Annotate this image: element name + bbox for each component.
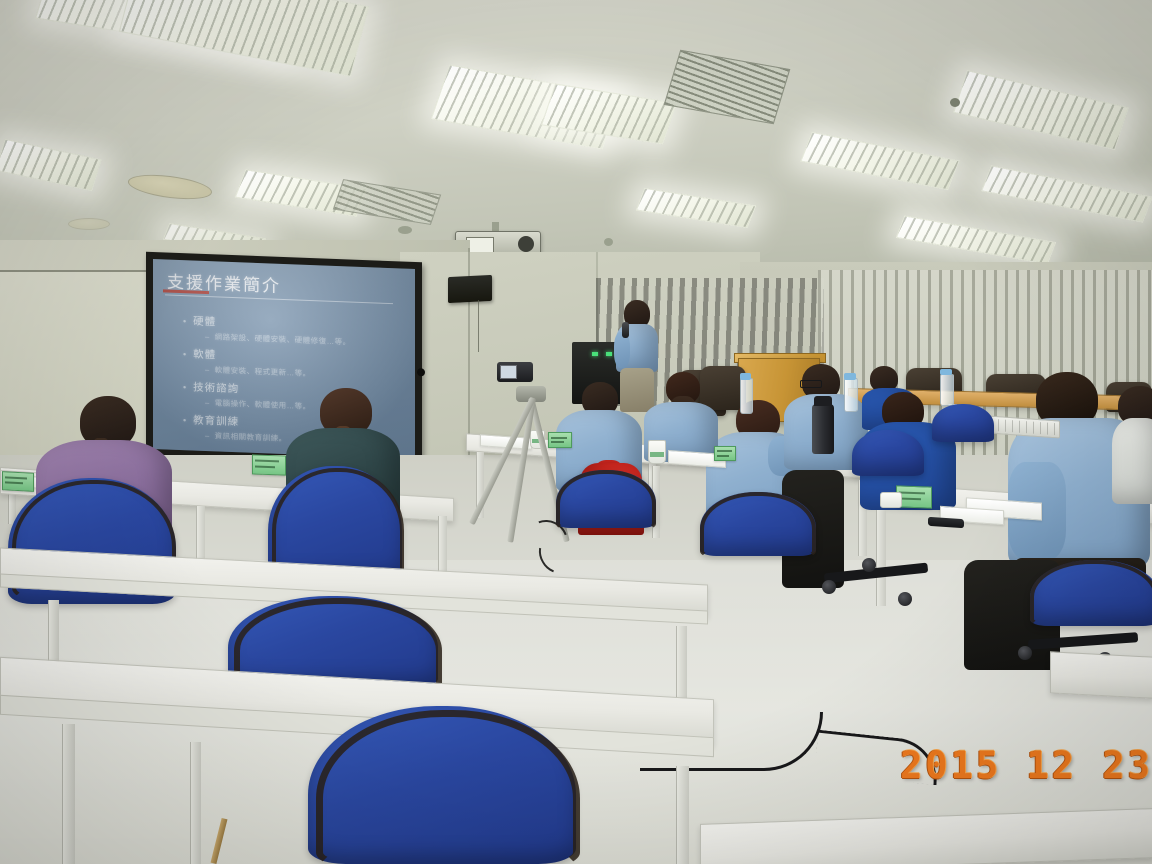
slide-title: 支援作業簡介 bbox=[167, 274, 403, 302]
presenter-microphone bbox=[622, 322, 629, 338]
ceiling-light-panel bbox=[981, 165, 1152, 223]
eyeglasses-icon bbox=[800, 380, 822, 388]
smoke-detector bbox=[950, 98, 960, 107]
water-bottle bbox=[740, 378, 753, 414]
office-chair bbox=[556, 470, 656, 532]
office-chair bbox=[1030, 560, 1152, 630]
status-led bbox=[592, 352, 598, 356]
bottle-cap bbox=[940, 369, 952, 375]
ceiling-light-panel bbox=[0, 139, 102, 192]
wall-speaker bbox=[448, 275, 492, 303]
ceiling-light-panel bbox=[800, 132, 960, 191]
table-leg bbox=[190, 742, 201, 864]
name-tent-card bbox=[714, 446, 736, 461]
attendee-torso bbox=[1112, 418, 1152, 504]
speaker-cable bbox=[478, 300, 479, 352]
ceiling-speaker bbox=[128, 171, 212, 203]
chair-caster bbox=[862, 558, 876, 572]
office-chair bbox=[932, 404, 994, 444]
screen-roller-knob bbox=[417, 368, 425, 376]
water-bottle bbox=[940, 374, 954, 406]
office-chair bbox=[700, 492, 816, 560]
table-leg bbox=[62, 724, 75, 864]
slide-title-accent-rule bbox=[163, 289, 209, 294]
ceiling-air-vent bbox=[664, 50, 791, 124]
ceiling-light-panel bbox=[953, 70, 1129, 150]
water-bottle bbox=[844, 378, 858, 412]
camcorder-lcd-screen bbox=[500, 365, 517, 379]
chair-caster bbox=[822, 580, 836, 594]
paper-cup bbox=[648, 440, 666, 464]
bottle-cap bbox=[740, 373, 751, 380]
photo-canvas: 支援作業簡介 硬體 網路架設、硬體安裝、硬體修復…等。 軟體 軟體安裝、程式更新… bbox=[0, 0, 1152, 864]
classroom-table bbox=[1050, 651, 1152, 698]
smoke-detector bbox=[398, 226, 412, 234]
camcorder bbox=[497, 362, 533, 382]
paper-cup bbox=[880, 492, 902, 508]
ceiling-patch bbox=[68, 218, 110, 230]
chair-caster bbox=[898, 592, 912, 606]
table-leg bbox=[438, 516, 447, 572]
bottle-cap bbox=[844, 373, 856, 380]
smoke-detector bbox=[604, 238, 613, 246]
table-leg bbox=[876, 510, 886, 606]
office-chair bbox=[852, 430, 924, 480]
chair-caster bbox=[1018, 646, 1032, 660]
camera-datestamp: 2015 12 23 bbox=[900, 744, 1152, 787]
attendee-right-back bbox=[1112, 386, 1152, 536]
ceiling-air-vent bbox=[333, 179, 441, 225]
ceiling-light-panel bbox=[636, 188, 757, 228]
office-chair bbox=[308, 706, 576, 864]
table-leg bbox=[676, 766, 689, 864]
vacuum-flask bbox=[812, 404, 834, 454]
ceiling-light-panel bbox=[896, 215, 1057, 264]
projector-knob bbox=[518, 236, 534, 252]
vacuum-flask-cap bbox=[814, 396, 832, 406]
ceiling-light-panel bbox=[119, 0, 369, 77]
